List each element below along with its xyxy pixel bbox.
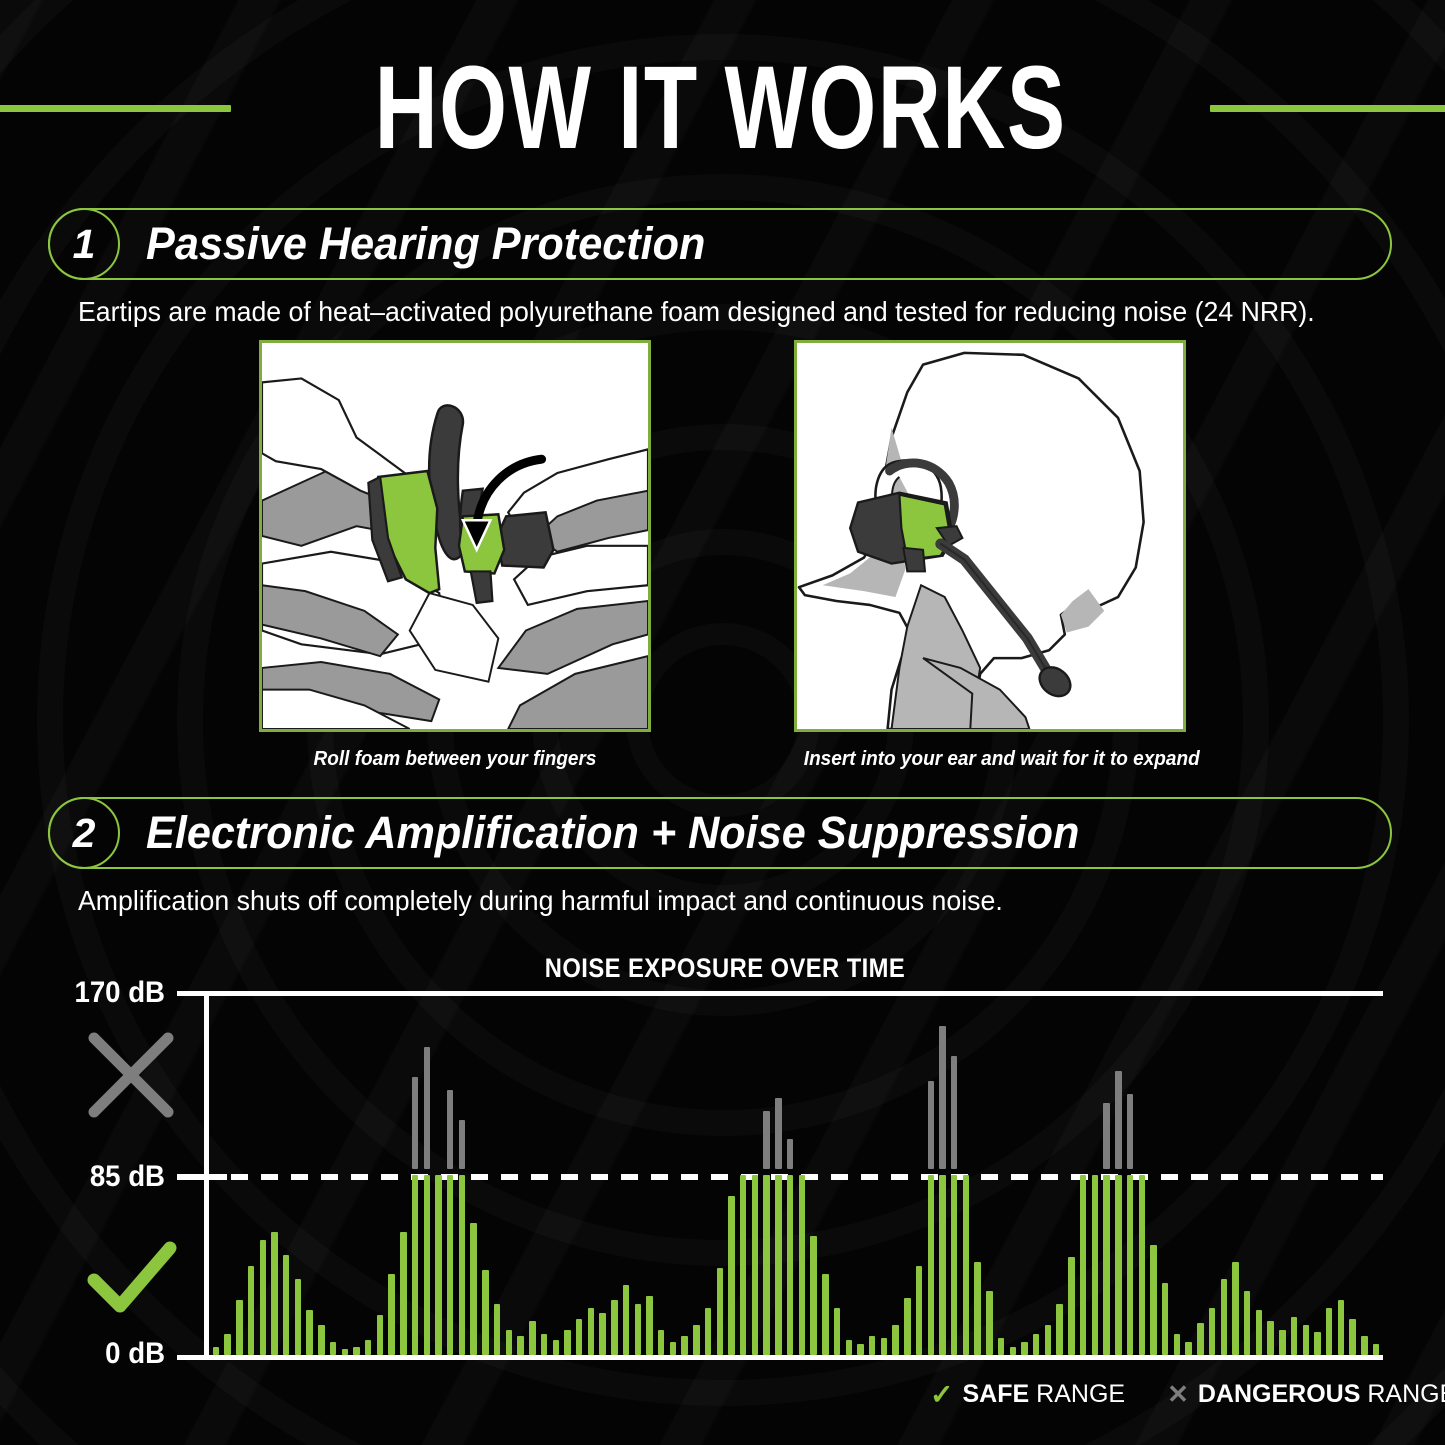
bar-safe: [306, 1310, 312, 1355]
bar-safe: [541, 1334, 547, 1355]
bar-safe: [330, 1342, 336, 1355]
bar-safe: [1209, 1308, 1215, 1355]
bar-safe: [1349, 1319, 1355, 1355]
bar-safe: [834, 1308, 840, 1355]
bar-safe: [424, 1175, 430, 1356]
infographic-root: HOW IT WORKS 1 Passive Hearing Protectio…: [0, 0, 1445, 1445]
bar-safe: [248, 1266, 254, 1355]
bar-safe: [681, 1336, 687, 1355]
page-title: HOW IT WORKS: [375, 49, 1067, 167]
bar-safe: [1373, 1344, 1379, 1355]
bar-dangerous: [787, 1139, 793, 1169]
bar-safe: [1326, 1308, 1332, 1355]
bar-safe: [1232, 1262, 1238, 1355]
dangerous-x-icon: [86, 1030, 176, 1120]
legend-check-icon: ✓: [930, 1378, 953, 1411]
legend-dangerous-label: DANGEROUS: [1198, 1380, 1361, 1409]
noise-bar-chart: [210, 994, 1382, 1355]
bar-safe: [494, 1304, 500, 1355]
bar-dangerous: [775, 1098, 781, 1168]
bar-safe: [1010, 1347, 1016, 1355]
bar-safe: [740, 1175, 746, 1356]
step-1-description: Eartips are made of heat–activated polyu…: [78, 297, 1315, 327]
bar-safe: [986, 1291, 992, 1355]
bar-safe: [705, 1308, 711, 1355]
bar-safe: [1115, 1175, 1121, 1356]
legend-x-icon: ✕: [1167, 1379, 1189, 1410]
bar-safe: [517, 1336, 523, 1355]
bar-safe: [763, 1175, 769, 1356]
bar-safe: [1080, 1175, 1086, 1356]
bar-safe: [1256, 1310, 1262, 1355]
bar-safe: [576, 1319, 582, 1355]
bar-safe: [1267, 1321, 1273, 1355]
bar-safe: [529, 1321, 535, 1355]
bar-safe: [283, 1255, 289, 1355]
bar-safe: [1033, 1334, 1039, 1355]
bar-safe: [1174, 1334, 1180, 1355]
bar-safe: [1221, 1279, 1227, 1355]
bar-safe: [728, 1196, 734, 1355]
bar-dangerous: [1115, 1071, 1121, 1169]
bar-safe: [506, 1330, 512, 1355]
bar-safe: [447, 1175, 453, 1356]
bar-safe: [224, 1334, 230, 1355]
bar-safe: [810, 1236, 816, 1355]
bar-safe: [928, 1175, 934, 1356]
bar-safe: [611, 1300, 617, 1355]
bar-safe: [318, 1325, 324, 1355]
bar-safe: [1279, 1330, 1285, 1355]
axis-label-85db: 85 dB: [13, 1160, 165, 1194]
bar-safe: [1150, 1245, 1156, 1355]
bar-safe: [459, 1175, 465, 1356]
bar-safe: [353, 1347, 359, 1355]
step-2-title: Electronic Amplification + Noise Suppres…: [146, 809, 1079, 857]
insert-ear-illustration: [794, 340, 1186, 732]
axis-label-170db: 170 dB: [13, 976, 165, 1010]
bar-safe: [1021, 1342, 1027, 1355]
bar-safe: [377, 1315, 383, 1355]
bar-safe: [904, 1298, 910, 1355]
bar-dangerous: [424, 1047, 430, 1168]
bar-safe: [295, 1279, 301, 1355]
bar-safe: [822, 1274, 828, 1355]
title-accent-line-left: [0, 105, 231, 112]
bar-safe: [1361, 1336, 1367, 1355]
bar-safe: [236, 1300, 242, 1355]
bar-safe: [470, 1223, 476, 1355]
step-1-header: 1 Passive Hearing Protection: [48, 208, 1392, 280]
bar-safe: [646, 1296, 652, 1355]
bar-safe: [1244, 1291, 1250, 1355]
bar-safe: [1338, 1300, 1344, 1355]
bar-safe: [1162, 1283, 1168, 1355]
bar-safe: [635, 1304, 641, 1355]
bar-safe: [846, 1340, 852, 1355]
legend-safe-range-label: RANGE: [1036, 1380, 1125, 1409]
axis-line-bottom: [177, 1355, 1383, 1360]
bar-safe: [260, 1240, 266, 1355]
bar-safe: [435, 1175, 441, 1356]
step-1-number: 1: [48, 208, 120, 280]
title-accent-line-right: [1210, 105, 1445, 112]
insert-ear-caption: Insert into your ear and wait for it to …: [804, 748, 1176, 770]
bar-dangerous: [763, 1111, 769, 1168]
bar-safe: [1103, 1175, 1109, 1356]
bar-dangerous: [459, 1120, 465, 1169]
chart-title: NOISE EXPOSURE OVER TIME: [461, 953, 989, 984]
bar-safe: [1185, 1342, 1191, 1355]
bar-safe: [775, 1175, 781, 1356]
axis-label-0db: 0 dB: [13, 1337, 165, 1371]
bar-dangerous: [1103, 1103, 1109, 1169]
bar-dangerous: [928, 1081, 934, 1168]
bar-dangerous: [939, 1026, 945, 1168]
bar-safe: [998, 1338, 1004, 1355]
bar-safe: [1056, 1304, 1062, 1355]
bar-safe: [1127, 1175, 1133, 1356]
roll-foam-caption: Roll foam between your fingers: [269, 748, 641, 770]
bar-safe: [1068, 1257, 1074, 1355]
bar-safe: [939, 1175, 945, 1356]
step-2-header: 2 Electronic Amplification + Noise Suppr…: [48, 797, 1392, 869]
bar-safe: [271, 1232, 277, 1355]
bar-safe: [365, 1340, 371, 1355]
bar-safe: [892, 1325, 898, 1355]
bar-safe: [1291, 1317, 1297, 1355]
bar-safe: [1045, 1325, 1051, 1355]
bar-safe: [213, 1347, 219, 1355]
bar-safe: [857, 1344, 863, 1355]
step-2-number: 2: [48, 797, 120, 869]
bar-safe: [1139, 1175, 1145, 1356]
bar-safe: [951, 1175, 957, 1356]
bar-safe: [564, 1330, 570, 1355]
bar-safe: [1092, 1175, 1098, 1356]
bar-safe: [1314, 1332, 1320, 1355]
bar-safe: [974, 1262, 980, 1355]
bar-dangerous: [412, 1077, 418, 1168]
roll-foam-illustration: [259, 340, 651, 732]
bar-safe: [658, 1330, 664, 1355]
bar-safe: [1303, 1325, 1309, 1355]
step-1-title: Passive Hearing Protection: [146, 220, 705, 268]
bar-safe: [1197, 1323, 1203, 1355]
bar-safe: [752, 1175, 758, 1356]
bar-dangerous: [1127, 1094, 1133, 1168]
bar-safe: [400, 1232, 406, 1355]
legend-safe-label: SAFE: [962, 1380, 1029, 1409]
bar-safe: [787, 1175, 793, 1356]
bar-safe: [881, 1338, 887, 1355]
bar-dangerous: [951, 1056, 957, 1169]
step-2-description: Amplification shuts off completely durin…: [78, 886, 1003, 916]
safe-check-icon: [86, 1238, 178, 1318]
bar-safe: [693, 1325, 699, 1355]
bar-safe: [869, 1336, 875, 1355]
chart-legend: ✓ SAFE RANGE ✕ DANGEROUS RANGE: [930, 1378, 1445, 1411]
bar-safe: [588, 1308, 594, 1355]
bar-safe: [342, 1349, 348, 1355]
bar-dangerous: [447, 1090, 453, 1169]
bar-safe: [799, 1175, 805, 1356]
legend-dangerous-range-label: RANGE: [1367, 1380, 1445, 1409]
bar-safe: [963, 1175, 969, 1356]
bar-safe: [670, 1342, 676, 1355]
page-header: HOW IT WORKS: [0, 38, 1445, 178]
bar-safe: [717, 1268, 723, 1355]
bar-safe: [599, 1313, 605, 1355]
bar-safe: [388, 1274, 394, 1355]
bar-safe: [412, 1175, 418, 1356]
bar-safe: [482, 1270, 488, 1355]
bar-safe: [916, 1266, 922, 1355]
bar-safe: [553, 1340, 559, 1355]
bar-safe: [623, 1285, 629, 1355]
